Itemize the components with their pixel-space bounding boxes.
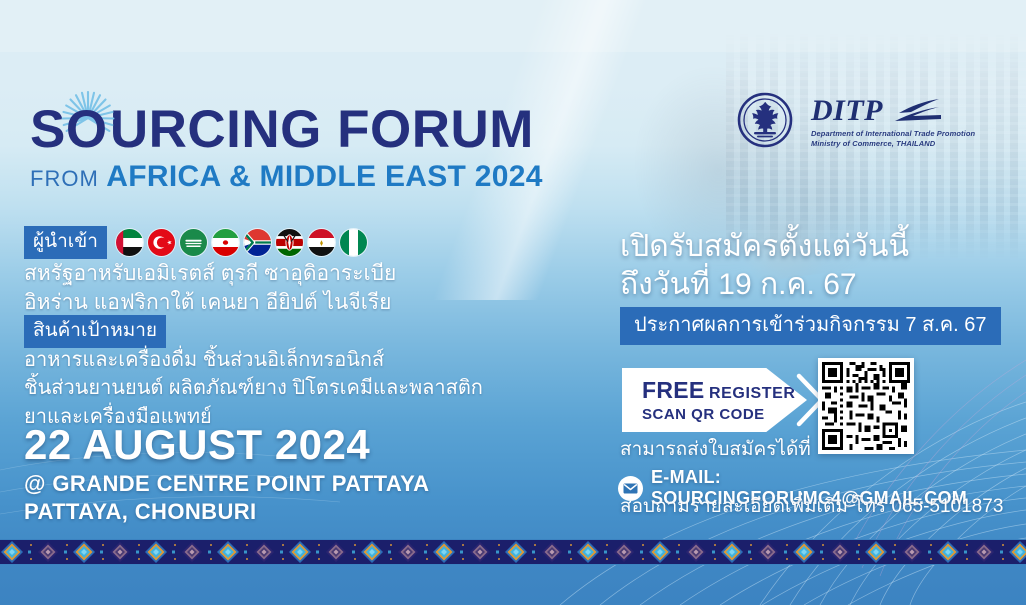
page-subtitle: FROM AFRICA & MIDDLE EAST 2024 [30, 162, 543, 192]
deadline-line-1: เปิดรับสมัครตั้งแต่วันนี้ [620, 228, 909, 266]
countries-line-2: อิหร่าน แอฟริกาใต้ เคนยา อียิปต์ ไนจีเรี… [24, 289, 396, 318]
title-letter-o: O [66, 100, 108, 159]
subtitle-from-label: FROM [30, 166, 99, 191]
flag-iran [212, 229, 239, 256]
title-part-2: URCING FORUM [110, 100, 534, 159]
goods-line-1: อาหารและเครื่องดื่ม ชิ้นส่วนอิเล็กทรอนิก… [24, 346, 483, 374]
target-goods-list: อาหารและเครื่องดื่ม ชิ้นส่วนอิเล็กทรอนิก… [24, 346, 483, 431]
target-goods-row: สินค้าเป้าหมาย [24, 315, 166, 348]
send-application-label: สามารถส่งใบสมัครได้ที่ [620, 440, 811, 459]
ditp-logo: DITP Department of International Trade P… [737, 92, 975, 149]
phone-contact: สอบถามรายละเอียดเพิ่มเติม โทร 065-510187… [620, 497, 1003, 516]
flag-turkey [148, 229, 175, 256]
ditp-text-block: DITP Department of International Trade P… [811, 96, 975, 149]
free-label: FREE [642, 377, 705, 403]
title-sunburst-o: O [66, 103, 110, 156]
page-title: S [30, 103, 543, 156]
importers-tag: ผู้นำเข้า [24, 226, 107, 259]
subtitle-text: AFRICA & MIDDLE EAST 2024 [106, 160, 542, 193]
free-register-callout: FREE REGISTER SCAN QR CODE [622, 368, 807, 432]
ditp-wordmark: DITP [811, 96, 975, 126]
results-announcement-badge: ประกาศผลการเข้าร่วมกิจกรรม 7 ส.ค. 67 [620, 307, 1001, 345]
register-label: REGISTER [709, 385, 796, 402]
scan-qr-label: SCAN QR CODE [642, 407, 807, 422]
target-goods-tag: สินค้าเป้าหมาย [24, 315, 166, 348]
decorative-pattern-border [0, 539, 1026, 565]
flag-saudi-arabia [180, 229, 207, 256]
flag-united-arab-emirates [116, 229, 143, 256]
event-venue: @ GRANDE CENTRE POINT PATTAYA PATTAYA, C… [24, 470, 429, 526]
flag-south-africa [244, 229, 271, 256]
qr-code-image [822, 362, 910, 450]
ditp-swoosh-icon [889, 98, 941, 124]
flag-egypt [308, 229, 335, 256]
ditp-subtitle: Department of International Trade Promot… [811, 129, 975, 149]
registration-qr-code[interactable] [818, 358, 914, 454]
title-block: S [30, 103, 543, 192]
ditp-name: DITP [811, 96, 883, 126]
flag-list [116, 229, 367, 256]
importers-row: ผู้นำเข้า [24, 226, 367, 259]
ditp-subtitle-line2: Ministry of Commerce, THAILAND [811, 139, 975, 149]
event-date: 22 AUGUST 2024 [24, 424, 370, 466]
flag-nigeria [340, 229, 367, 256]
venue-line-2: PATTAYA, CHONBURI [24, 498, 429, 526]
countries-line-1: สหรัฐอาหรับเอมิเรตส์ ตุรกี ซาอุดิอาระเบี… [24, 260, 396, 289]
free-register-line-1: FREE REGISTER [642, 379, 807, 402]
sourcing-forum-banner: S [0, 0, 1026, 605]
goods-line-2: ชิ้นส่วนยานยนต์ ผลิตภัณฑ์ยาง ปิโตรเคมีแล… [24, 374, 483, 402]
thai-government-seal-icon [737, 92, 793, 148]
flag-kenya [276, 229, 303, 256]
venue-line-1: @ GRANDE CENTRE POINT PATTAYA [24, 470, 429, 498]
registration-deadline: เปิดรับสมัครตั้งแต่วันนี้ ถึงวันที่ 19 ก… [620, 228, 909, 304]
importer-country-names: สหรัฐอาหรับเอมิเรตส์ ตุรกี ซาอุดิอาระเบี… [24, 260, 396, 318]
deadline-line-2: ถึงวันที่ 19 ก.ค. 67 [620, 266, 909, 304]
ditp-subtitle-line1: Department of International Trade Promot… [811, 129, 975, 139]
